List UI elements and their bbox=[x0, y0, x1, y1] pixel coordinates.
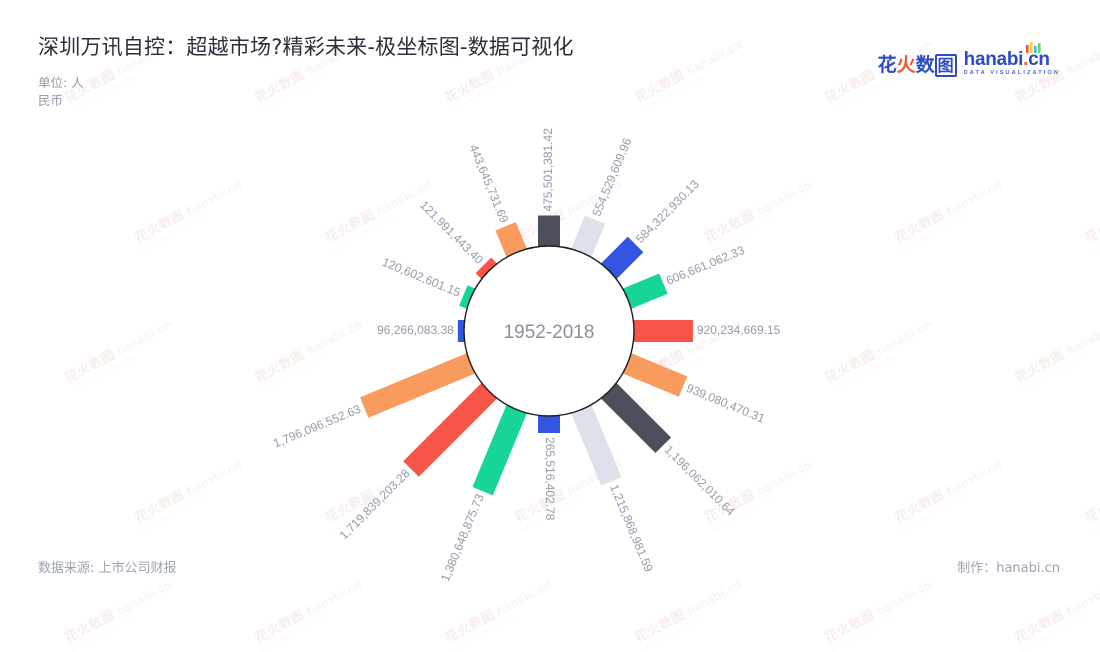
brand-char-tu: 图 bbox=[935, 54, 957, 77]
bar-value-label: 96,266,083.38 bbox=[377, 323, 454, 337]
bar-value-label: 1,796,096,552.63 bbox=[271, 402, 363, 451]
polar-bar[interactable] bbox=[472, 404, 527, 495]
bar-value-label: 443,645,731.69 bbox=[466, 142, 511, 225]
bar-value-label: 475,501,381.42 bbox=[541, 128, 555, 212]
brand-tagline: DATA VISUALIZATION bbox=[964, 71, 1060, 77]
polar-bar[interactable] bbox=[538, 216, 560, 247]
bar-value-label: 920,234,669.15 bbox=[697, 323, 781, 337]
polar-bar[interactable] bbox=[601, 383, 671, 453]
unit-label: 单位: 人民币 bbox=[38, 74, 84, 110]
header: 深圳万讯自控：超越市场?精彩未来-极坐标图-数据可视化 单位: 人民币 bbox=[38, 33, 574, 111]
brand-en-name: hanabi bbox=[964, 49, 1023, 70]
polar-bar[interactable] bbox=[571, 404, 622, 485]
credit-note: 制作：hanabi.cn bbox=[957, 557, 1060, 576]
bar-value-label: 265,516,402.78 bbox=[543, 437, 557, 521]
bar-value-label: 1,380,648,875.73 bbox=[438, 492, 487, 584]
bar-value-label: 606,661,062.33 bbox=[664, 243, 747, 288]
brand-char-shu: 数 bbox=[916, 54, 935, 76]
bar-value-label: 120,602,601.15 bbox=[380, 255, 463, 300]
brand-logo-en-group: hanabi.cn DATA VISUALIZATION bbox=[964, 50, 1060, 77]
brand-logo-cn: 花火数图 bbox=[878, 50, 957, 77]
brand-char-huo: 火 bbox=[897, 54, 916, 76]
data-source-note: 数据来源: 上市公司财报 bbox=[38, 557, 177, 576]
bar-value-label: 584,322,930.13 bbox=[633, 177, 702, 246]
bar-value-label: 939,080,470.31 bbox=[684, 381, 767, 426]
polar-bar[interactable] bbox=[538, 415, 560, 433]
bar-value-label: 1,215,868,981.59 bbox=[607, 482, 656, 574]
page-title: 深圳万讯自控：超越市场?精彩未来-极坐标图-数据可视化 bbox=[38, 33, 574, 61]
bar-value-label: 1,196,062,010.64 bbox=[662, 443, 738, 519]
polar-bar[interactable] bbox=[633, 320, 693, 342]
center-period-label: 1952-2018 bbox=[504, 322, 595, 343]
brand-logo: 花火数图 hanabi.cn DATA VISUALIZATION bbox=[878, 50, 1060, 77]
brand-logo-en: hanabi.cn bbox=[964, 50, 1060, 69]
sparkle-icon bbox=[1024, 41, 1046, 53]
polar-bar[interactable] bbox=[622, 353, 687, 397]
bar-value-label: 1,719,839,203.28 bbox=[337, 466, 413, 542]
bar-value-label: 121,991,443.40 bbox=[417, 198, 486, 267]
brand-char-hua: 花 bbox=[878, 54, 897, 76]
bar-value-label: 554,529,609.96 bbox=[589, 136, 634, 219]
